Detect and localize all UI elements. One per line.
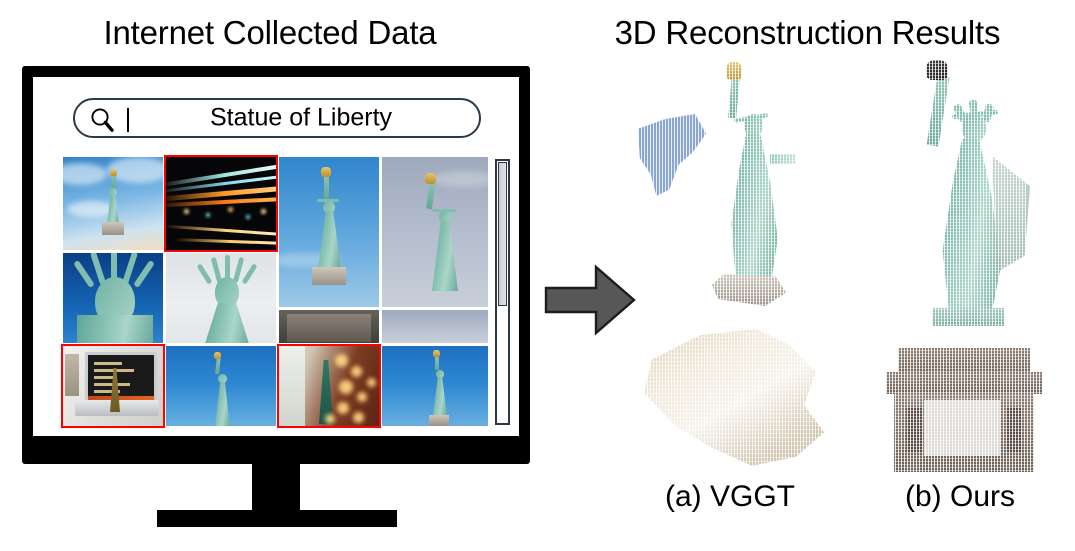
vggt-degenerate-pointcloud (632, 326, 832, 478)
text-cursor (127, 108, 129, 132)
list-item[interactable] (279, 157, 379, 307)
list-item[interactable] (382, 346, 488, 426)
list-item[interactable] (382, 157, 488, 307)
right-arrow-icon (544, 262, 636, 338)
list-item[interactable] (279, 310, 379, 343)
search-input[interactable]: Statue of Liberty (135, 104, 467, 133)
list-item[interactable] (63, 157, 163, 250)
monitor-frame: Statue of Liberty (22, 66, 530, 464)
list-item[interactable] (63, 346, 163, 426)
search-bar[interactable]: Statue of Liberty (73, 98, 481, 138)
torch (926, 60, 948, 80)
image-results-grid (63, 157, 493, 427)
vggt-statue-reconstruction (636, 62, 836, 322)
monitor-neck (252, 464, 300, 514)
ours-statue-reconstruction (876, 60, 1066, 360)
tablet-arm (770, 154, 796, 164)
search-icon (89, 107, 115, 133)
list-item[interactable] (166, 346, 276, 426)
list-item[interactable] (279, 346, 379, 426)
monitor-base (157, 510, 397, 527)
ours-label: (b) Ours (860, 480, 1060, 514)
pedestal-highlight (924, 400, 1000, 456)
figure-root: Internet Collected Data 3D Reconstructio… (0, 0, 1075, 551)
left-panel-title: Internet Collected Data (0, 14, 540, 52)
list-item[interactable] (166, 253, 276, 343)
list-item[interactable] (63, 253, 163, 343)
monitor-screen: Statue of Liberty (33, 77, 519, 436)
scrollbar[interactable] (495, 159, 510, 425)
ours-pedestal-reconstruction (880, 348, 1050, 474)
robe-pointcloud-region (992, 156, 1030, 272)
right-panel-title: 3D Reconstruction Results (540, 14, 1075, 52)
list-item[interactable] (382, 310, 488, 343)
scrollbar-thumb[interactable] (498, 162, 507, 306)
vggt-label: (a) VGGT (630, 480, 830, 514)
list-item[interactable] (166, 157, 276, 250)
